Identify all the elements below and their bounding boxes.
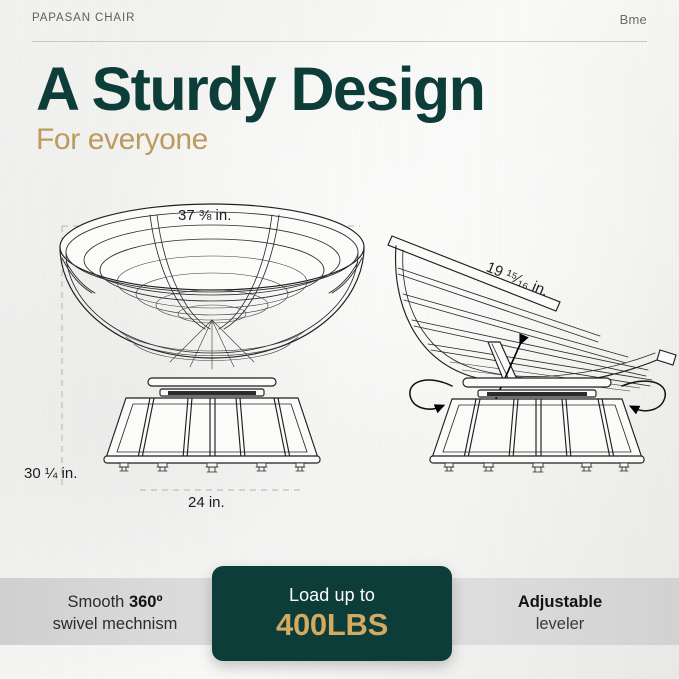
feature-swivel-degrees: 360º xyxy=(129,593,163,611)
side-view-swivel-plate xyxy=(463,378,611,397)
front-view-weave xyxy=(118,320,306,369)
dimension-label-height: 30 ¼ in. xyxy=(24,465,77,482)
header-divider xyxy=(32,41,647,42)
feature-swivel: Smooth 360º swivel mechnism xyxy=(10,592,220,636)
feature-swivel-line2: swivel mechnism xyxy=(10,614,220,636)
load-capacity-caption: Load up to xyxy=(289,585,375,606)
front-view-levelers xyxy=(119,463,305,472)
feature-swivel-line1: Smooth 360º xyxy=(10,592,220,614)
feature-swivel-prefix: Smooth xyxy=(67,593,128,611)
papasan-chair-side-view xyxy=(388,236,676,472)
dimension-diagram: .ln { fill:none; stroke:#1f1f1f; stroke-… xyxy=(0,190,679,530)
diagram-svg: .ln { fill:none; stroke:#1f1f1f; stroke-… xyxy=(0,190,679,530)
page-title: A Sturdy Design xyxy=(36,58,484,120)
swivel-rotation-arrow-right xyxy=(622,381,665,411)
page-header: PAPASAN CHAIR Bme xyxy=(32,12,647,44)
brand-logo-text: Bme xyxy=(620,12,647,27)
front-view-base-frame xyxy=(104,398,320,463)
dimension-label-width: 37 ⅜ in. xyxy=(178,207,231,224)
side-view-base-frame xyxy=(430,399,644,463)
feature-leveler-line2: leveler xyxy=(455,614,665,636)
product-category-label: PAPASAN CHAIR xyxy=(32,12,135,24)
infographic-canvas: PAPASAN CHAIR Bme A Sturdy Design For ev… xyxy=(0,0,679,679)
front-view-swivel-plate xyxy=(148,378,276,396)
swivel-rotation-arrow-left xyxy=(410,380,452,409)
side-view-levelers xyxy=(444,463,629,472)
load-capacity-card: Load up to 400LBS xyxy=(212,566,452,661)
load-capacity-value: 400LBS xyxy=(276,607,388,643)
title-block: A Sturdy Design For everyone xyxy=(36,58,484,156)
feature-leveler: Adjustable leveler xyxy=(455,592,665,636)
feature-leveler-line1: Adjustable xyxy=(455,592,665,614)
page-subtitle: For everyone xyxy=(36,124,484,156)
dimension-label-depth: 24 in. xyxy=(188,494,225,511)
papasan-chair-front-view xyxy=(60,204,364,472)
